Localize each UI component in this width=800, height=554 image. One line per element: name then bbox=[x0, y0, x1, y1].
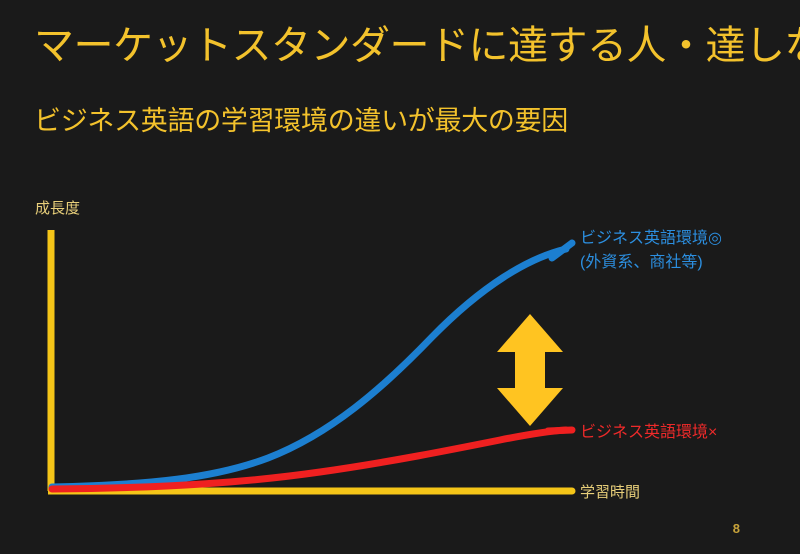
page-number: 8 bbox=[733, 521, 740, 536]
series-label-blue: ビジネス英語環境◎ (外資系、商社等) bbox=[580, 227, 722, 275]
x-axis-label: 学習時間 bbox=[580, 481, 640, 502]
y-axis-label: 成長度 bbox=[35, 197, 80, 218]
legend-marker-red bbox=[548, 430, 572, 431]
series-label-blue-line1: ビジネス英語環境◎ bbox=[580, 227, 722, 251]
series-label-red: ビジネス英語環境× bbox=[580, 421, 717, 445]
gap-double-arrow-icon bbox=[497, 314, 563, 426]
series-line-blue bbox=[52, 249, 566, 487]
slide: マーケットスタンダードに達する人・達しない人 ビジネス英語の学習環境の違いが最大… bbox=[0, 0, 800, 554]
growth-comparison-chart bbox=[0, 0, 800, 554]
series-label-blue-line2: (外資系、商社等) bbox=[580, 251, 722, 275]
